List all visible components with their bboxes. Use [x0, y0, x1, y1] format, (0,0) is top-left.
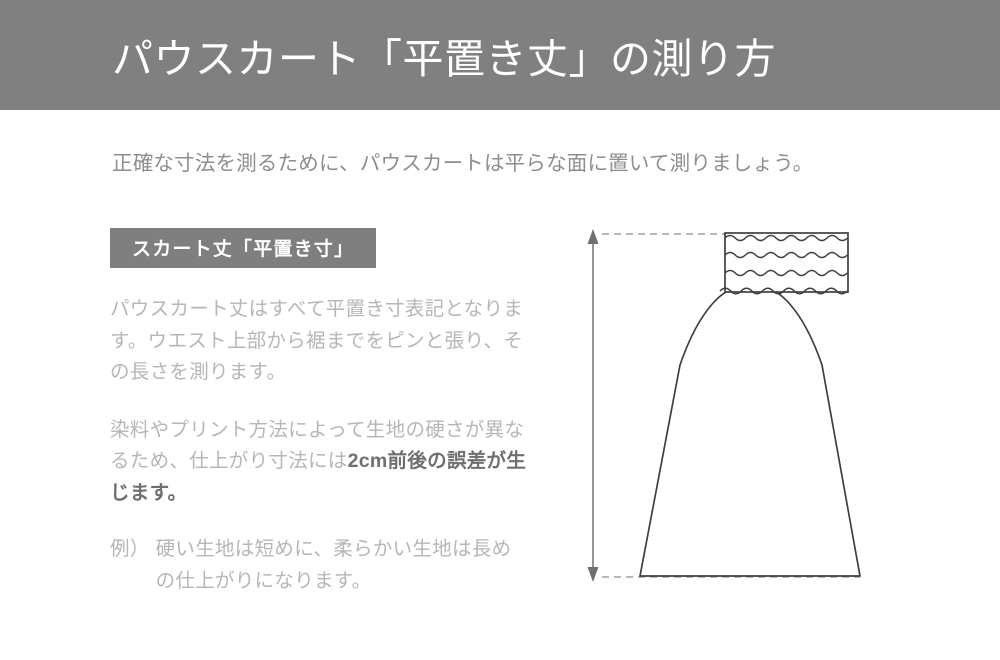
measure-arrowhead-top: [588, 229, 599, 244]
section-badge: スカート丈「平置き寸」: [110, 228, 376, 268]
infographic-page: パウスカート「平置き丈」の測り方 正確な寸法を測るために、パウスカートは平らな面…: [0, 0, 1000, 660]
skirt-diagram: [560, 205, 990, 605]
paragraph-measurement-basis: パウスカート丈はすべて平置き寸表記となります。ウエスト上部から裾までをピンと張り…: [110, 294, 530, 389]
paragraph-tolerance: 染料やプリント方法によって生地の硬さが異なるため、仕上がり寸法には2cm前後の誤…: [110, 415, 530, 510]
example-label: 例）: [110, 534, 150, 597]
header-bar: パウスカート「平置き丈」の測り方: [0, 0, 1000, 110]
left-content-column: スカート丈「平置き寸」 パウスカート丈はすべて平置き寸表記となります。ウエスト上…: [110, 228, 530, 598]
example-body: 硬い生地は短めに、柔らかい生地は長めの仕上がりになります。: [156, 534, 530, 597]
skirt-body-outline: [640, 291, 860, 576]
waistband-outline: [725, 233, 848, 292]
page-title: パウスカート「平置き丈」の測り方: [112, 25, 776, 85]
paragraph-example: 例） 硬い生地は短めに、柔らかい生地は長めの仕上がりになります。: [110, 534, 530, 597]
lead-sentence: 正確な寸法を測るために、パウスカートは平らな面に置いて測りましょう。: [112, 146, 813, 176]
measure-arrowhead-bottom: [588, 567, 599, 582]
